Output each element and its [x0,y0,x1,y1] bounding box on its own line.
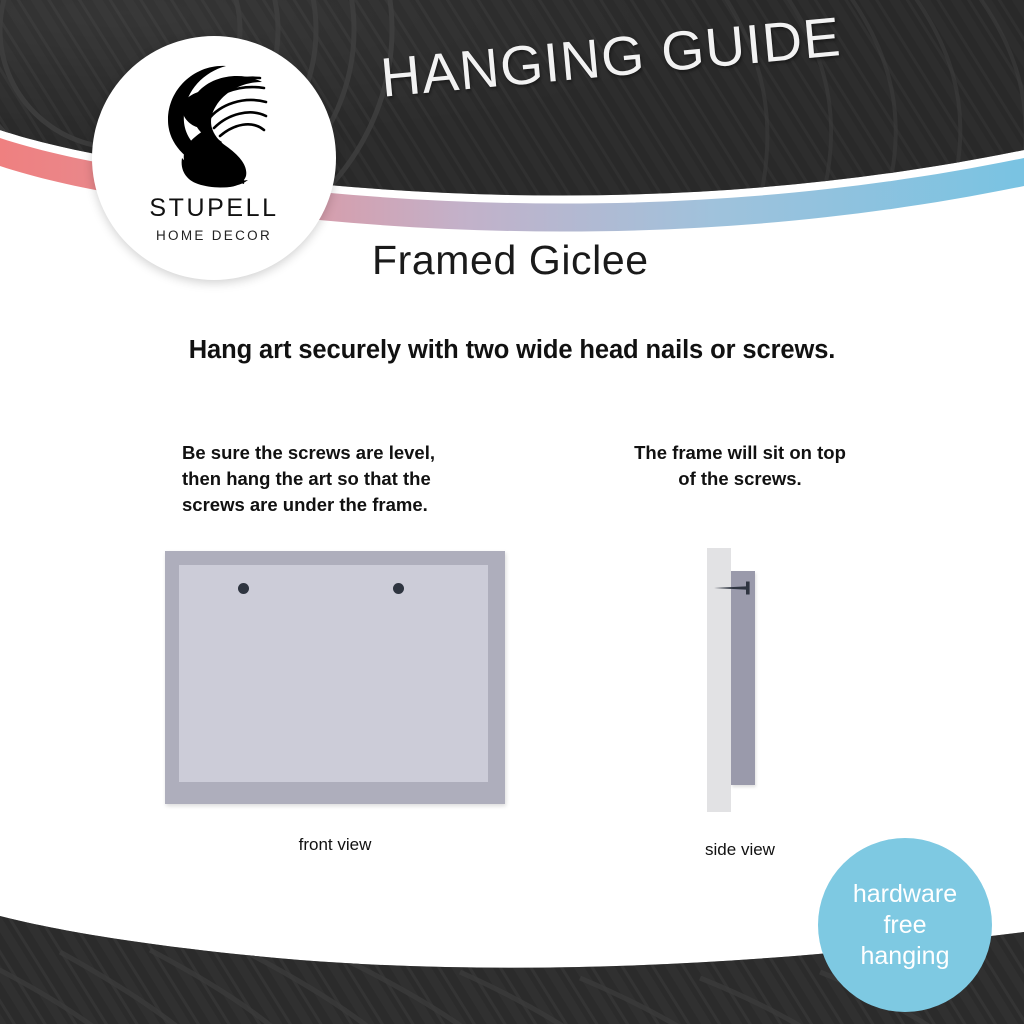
front-view-panel: Be sure the screws are level, then hang … [140,440,510,518]
page-title: HANGING GUIDE [378,4,844,110]
badge-line-2: free [883,910,926,941]
hardware-free-hanging-badge: hardware free hanging [818,838,992,1012]
front-view-frame-inner [179,565,488,782]
stupell-s-swirl-icon [152,62,276,190]
screw-dot-left [238,583,249,594]
badge-line-1: hardware [853,879,957,910]
side-caption-line-1: The frame will sit on top [570,440,910,466]
logo-brand-name: STUPELL [149,196,278,221]
side-view-label: side view [650,840,830,860]
front-caption-line-1: Be sure the screws are level, [182,440,510,466]
front-view-caption: Be sure the screws are level, then hang … [140,440,510,518]
product-type-subtitle: Framed Giclee [372,237,649,284]
main-instruction-text: Hang art securely with two wide head nai… [0,336,1024,365]
side-caption-line-2: of the screws. [570,466,910,492]
stupell-logo-badge: STUPELL HOME DECOR [92,36,336,280]
front-caption-line-2: then hang the art so that the [182,466,510,492]
nail-icon [712,580,756,596]
front-view-frame-diagram [165,551,505,804]
hanging-guide-page: STUPELL HOME DECOR HANGING GUIDE Framed … [0,0,1024,1024]
front-caption-line-3: screws are under the frame. [182,492,510,518]
front-view-label: front view [165,835,505,855]
side-view-frame [731,571,755,785]
logo-brand-subtitle: HOME DECOR [156,228,272,243]
side-view-panel: The frame will sit on top of the screws. [570,440,910,492]
screw-dot-right [393,583,404,594]
side-view-caption: The frame will sit on top of the screws. [570,440,910,492]
badge-line-3: hanging [861,941,950,972]
